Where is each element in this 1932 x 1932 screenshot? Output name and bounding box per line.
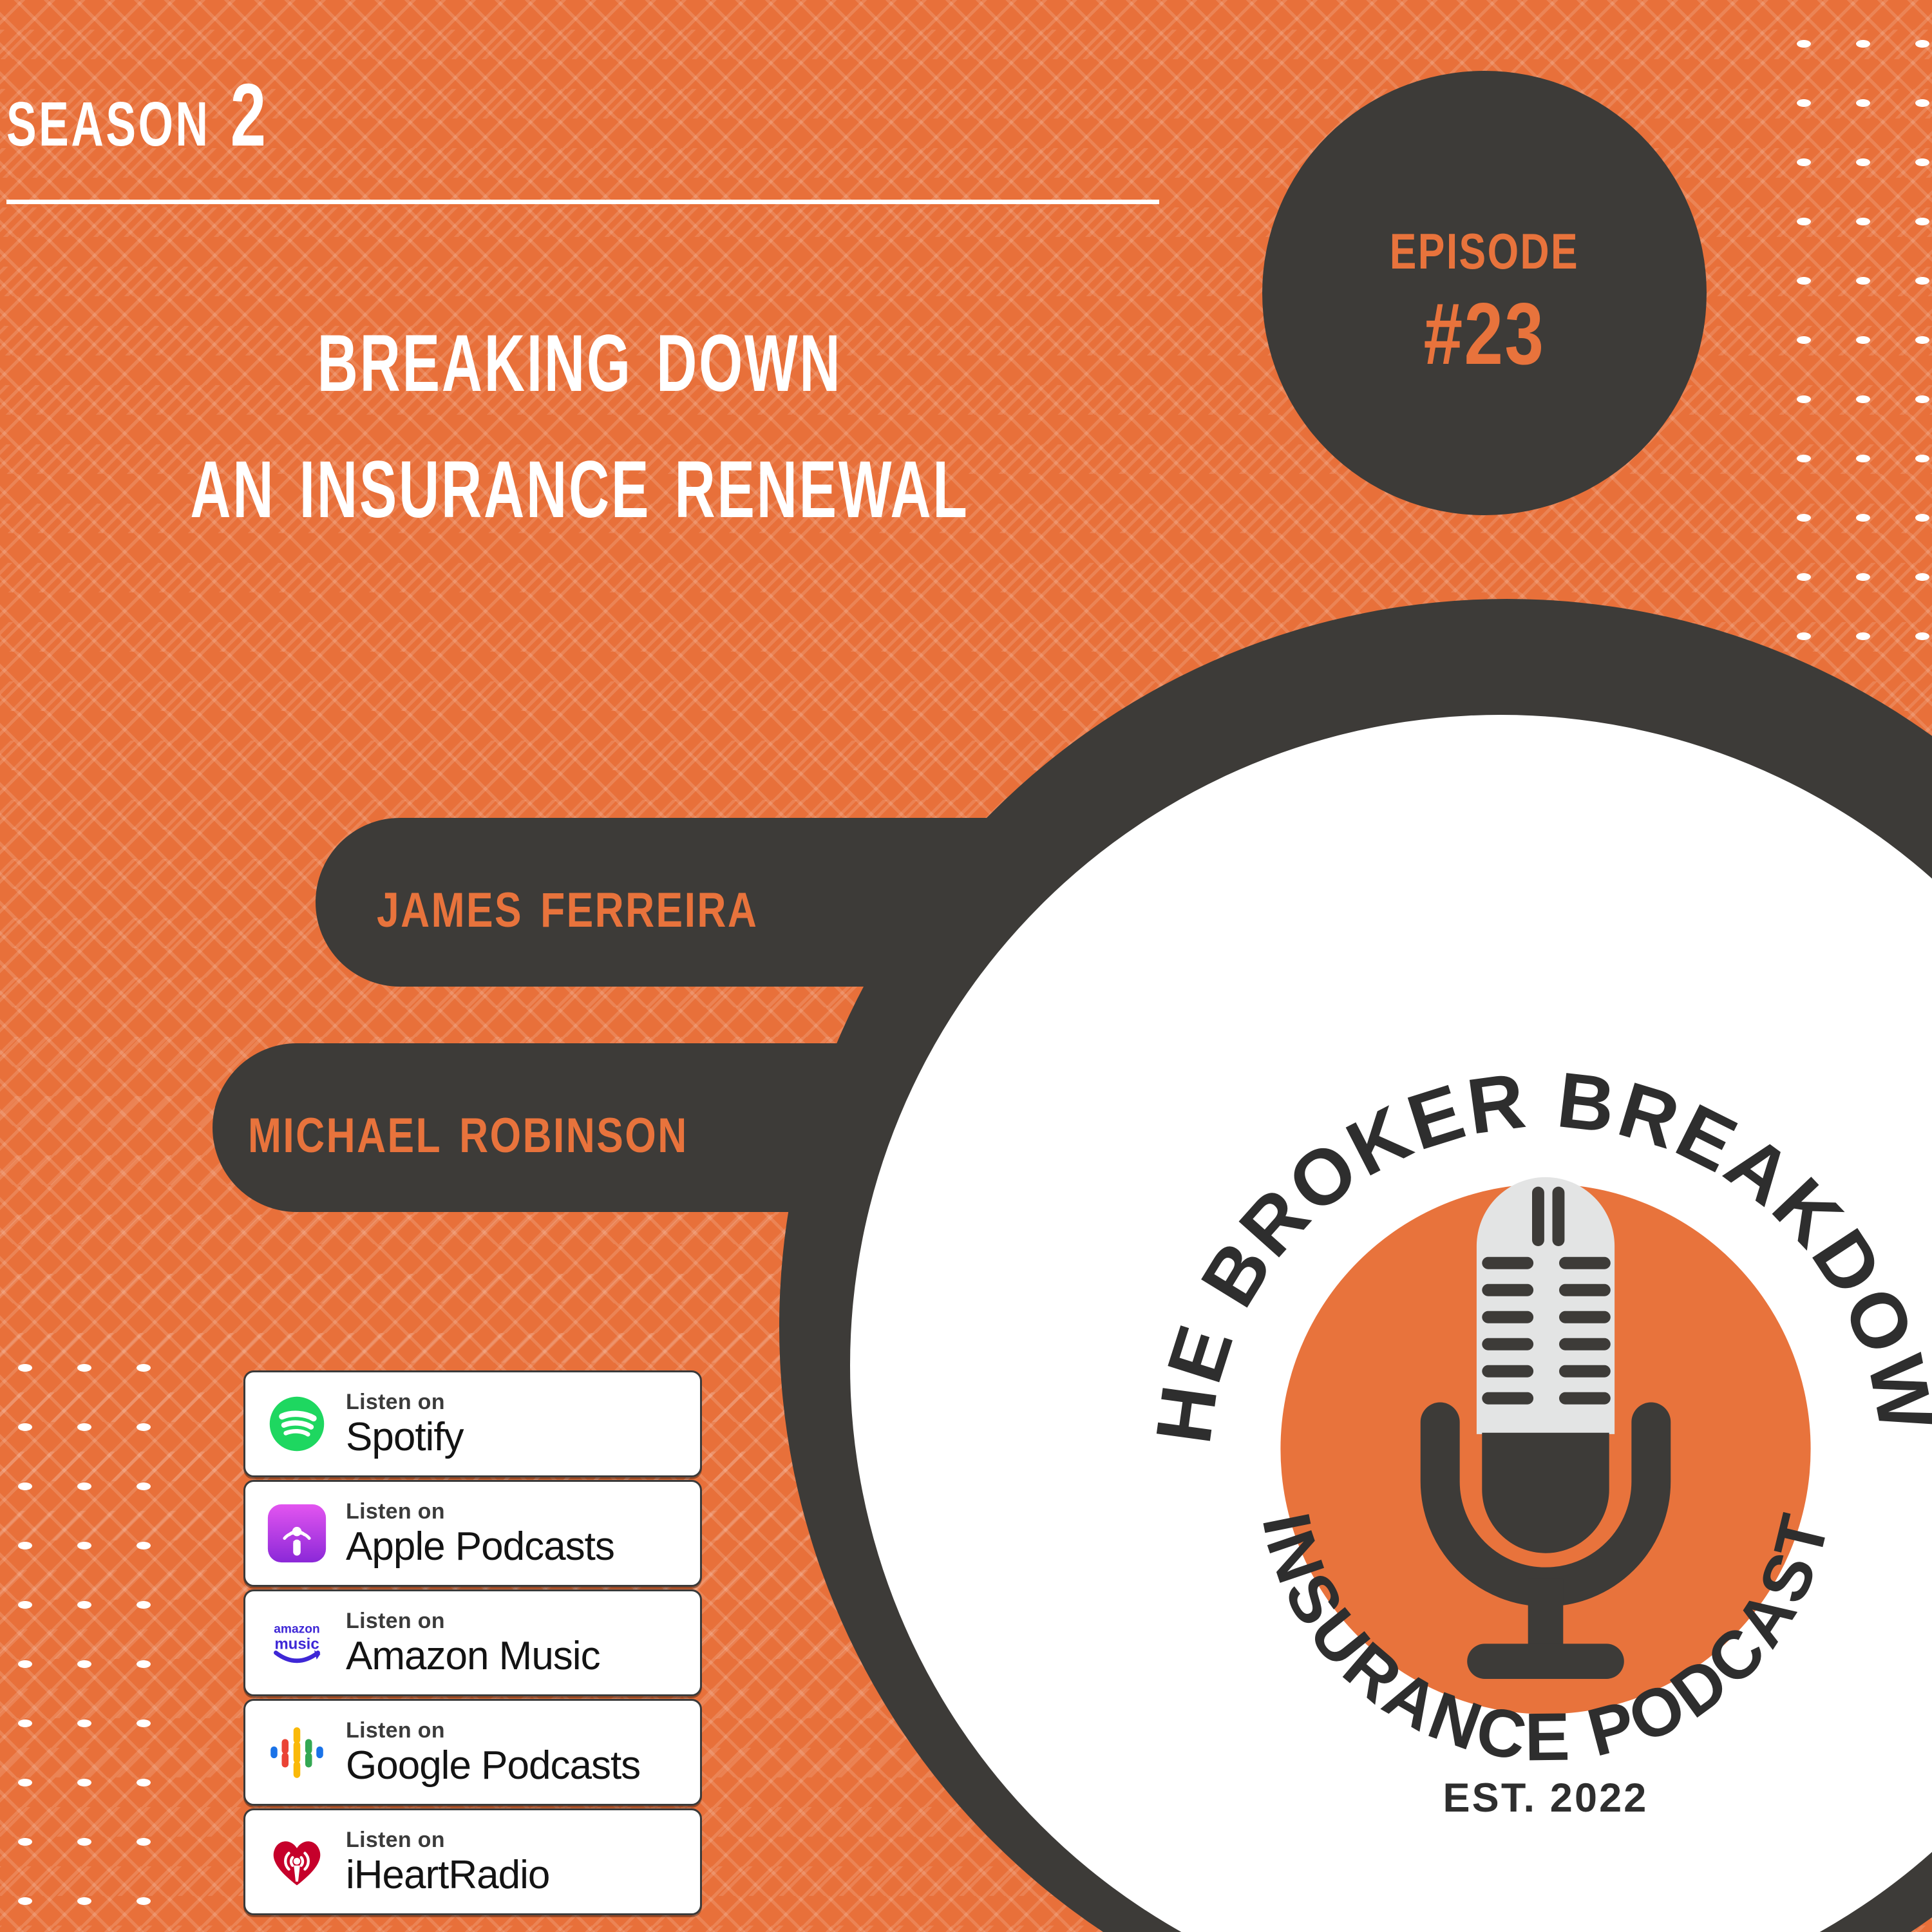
dot (1915, 40, 1929, 48)
episode-badge-word: Episode (1390, 206, 1579, 282)
dot (18, 1719, 32, 1727)
listen-badge-apple-podcasts[interactable]: Listen on Apple Podcasts (243, 1480, 702, 1587)
dot (1915, 632, 1929, 640)
dot (1856, 158, 1870, 166)
listen-badge-spotify[interactable]: Listen on Spotify (243, 1370, 702, 1477)
dot (1915, 573, 1929, 581)
season-label: Season 2 (6, 71, 837, 160)
dot (77, 1719, 91, 1727)
dot (1856, 395, 1870, 403)
speaker-name-1: James Ferreira (377, 862, 758, 943)
dot (137, 1364, 151, 1372)
badge-kicker: Listen on (346, 1501, 614, 1522)
dot (1856, 336, 1870, 344)
listen-badge-amazon-music[interactable]: amazon music Listen on Amazon Music (243, 1589, 702, 1696)
badge-platform-name: Spotify (346, 1417, 464, 1457)
dot (1797, 99, 1811, 107)
dot (1915, 395, 1929, 403)
dot (77, 1542, 91, 1549)
podcast-episode-cover: Season 2 Breaking down an insurance rene… (0, 0, 1932, 1932)
badge-kicker: Listen on (346, 1829, 549, 1851)
dot (137, 1482, 151, 1490)
dot (18, 1660, 32, 1668)
dot (18, 1897, 32, 1905)
dot (137, 1542, 151, 1549)
podcast-logo: THE BROKER BREAKDOWN INSURANCE PODCAST E… (1140, 1043, 1932, 1855)
episode-number-badge: Episode #23 (1262, 71, 1707, 515)
google-podcasts-icon (263, 1719, 330, 1786)
dot (1856, 218, 1870, 225)
dot (137, 1601, 151, 1609)
apple-podcasts-icon (263, 1500, 330, 1567)
listen-badge-iheartradio[interactable]: Listen on iHeartRadio (243, 1808, 702, 1915)
dot (1797, 336, 1811, 344)
dot (1856, 455, 1870, 462)
listen-on-badge-list: Listen on Spotify (243, 1370, 702, 1918)
dot (18, 1423, 32, 1431)
dot (1856, 632, 1870, 640)
dot (137, 1897, 151, 1905)
dot (77, 1601, 91, 1609)
spotify-icon (263, 1390, 330, 1457)
dot (1915, 158, 1929, 166)
amazon-music-icon: amazon music (263, 1609, 330, 1676)
dot (137, 1660, 151, 1668)
dot (18, 1838, 32, 1846)
dot (77, 1364, 91, 1372)
dot (137, 1779, 151, 1786)
iheartradio-icon (263, 1828, 330, 1895)
episode-title-line-2: an insurance renewal (174, 419, 985, 536)
dot (1797, 455, 1811, 462)
dot (1797, 277, 1811, 285)
dot (137, 1423, 151, 1431)
dot (77, 1838, 91, 1846)
badge-platform-name: Apple Podcasts (346, 1527, 614, 1567)
dot (18, 1779, 32, 1786)
dot (1915, 277, 1929, 285)
dot (1797, 40, 1811, 48)
svg-text:amazon: amazon (274, 1623, 319, 1636)
dot (1856, 99, 1870, 107)
dot (1915, 514, 1929, 522)
episode-title: Breaking down an insurance renewal (0, 293, 1159, 536)
dot (1797, 395, 1811, 403)
episode-badge-number: #23 (1424, 288, 1546, 380)
dot (1915, 99, 1929, 107)
dot (77, 1779, 91, 1786)
badge-platform-name: Amazon Music (346, 1636, 600, 1676)
dot (1915, 336, 1929, 344)
badge-kicker: Listen on (346, 1719, 640, 1741)
dot (1797, 218, 1811, 225)
badge-platform-name: iHeartRadio (346, 1855, 549, 1895)
dot (1915, 455, 1929, 462)
dot (1915, 218, 1929, 225)
season-divider (6, 200, 1159, 204)
dot (137, 1719, 151, 1727)
dot (1797, 514, 1811, 522)
dot (1797, 158, 1811, 166)
episode-title-line-1: Breaking down (174, 293, 985, 410)
speaker-name-2: Michael Robinson (248, 1088, 688, 1168)
speaker-pill-1: James Ferreira (316, 818, 1043, 987)
dot (1856, 40, 1870, 48)
dot (1856, 573, 1870, 581)
dot (18, 1482, 32, 1490)
badge-kicker: Listen on (346, 1391, 464, 1413)
dot (1856, 514, 1870, 522)
dot (18, 1364, 32, 1372)
svg-text:music: music (274, 1636, 319, 1653)
dot (77, 1482, 91, 1490)
season-block: Season 2 (6, 71, 1159, 160)
badge-platform-name: Google Podcasts (346, 1746, 640, 1786)
dot (77, 1897, 91, 1905)
dot (77, 1660, 91, 1668)
badge-kicker: Listen on (346, 1610, 600, 1632)
dot (77, 1423, 91, 1431)
logo-established-text: EST. 2022 (1443, 1776, 1649, 1821)
dot (1856, 277, 1870, 285)
dot (1797, 573, 1811, 581)
dot (18, 1601, 32, 1609)
listen-badge-google-podcasts[interactable]: Listen on Google Podcasts (243, 1699, 702, 1806)
dot (137, 1838, 151, 1846)
dot (1797, 632, 1811, 640)
dot (18, 1542, 32, 1549)
